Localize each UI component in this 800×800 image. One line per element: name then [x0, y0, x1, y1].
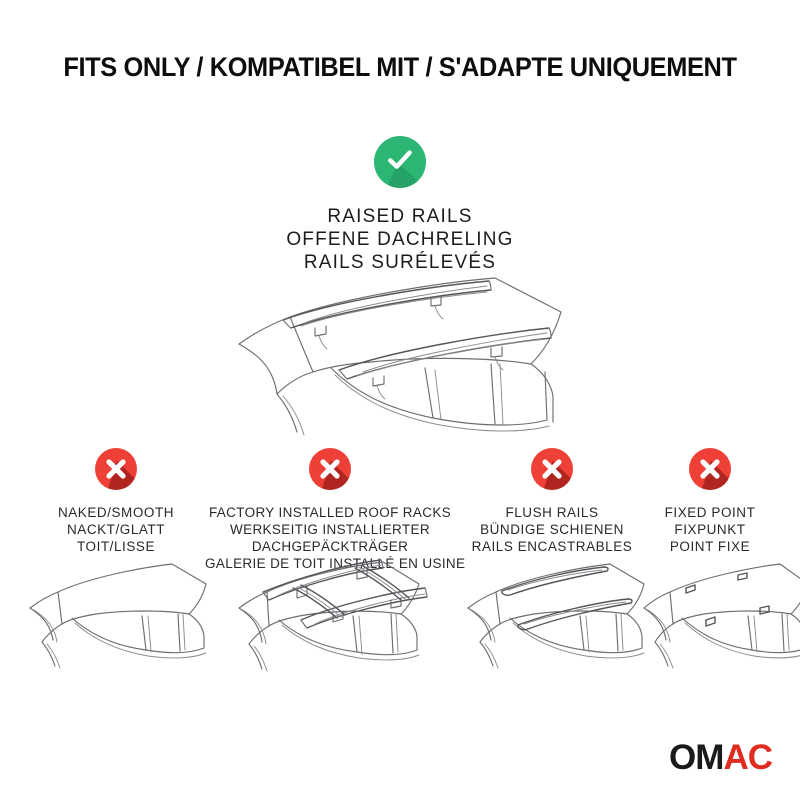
- approved-label-de: OFFENE DACHRELING: [0, 228, 800, 251]
- rejected-label-de: NACKT/GLATT: [10, 521, 222, 538]
- car-roof-factory-rack-illustration: [205, 530, 455, 680]
- car-roof-fixed-point-illustration: [630, 548, 790, 678]
- rejected-item-flush-rails: FLUSH RAILS BÜNDIGE SCHIENEN RAILS ENCAS…: [452, 448, 652, 555]
- rejected-label-en: FLUSH RAILS: [452, 504, 652, 521]
- rejected-item-naked-smooth: NAKED/SMOOTH NACKT/GLATT TOIT/LISSE: [10, 448, 222, 555]
- x-mark-glyph: [104, 457, 128, 481]
- approved-label-en: RAISED RAILS: [0, 205, 800, 228]
- omac-brand-logo: OMAC: [669, 740, 772, 776]
- x-circle-icon: [309, 448, 351, 490]
- approved-label-group: RAISED RAILS OFFENE DACHRELING RAILS SUR…: [0, 205, 800, 274]
- car-roof-flush-rails-illustration: [452, 548, 652, 678]
- brand-logo-dark-text: OM: [669, 738, 723, 777]
- x-circle-icon: [689, 448, 731, 490]
- rejected-label-en: NAKED/SMOOTH: [10, 504, 222, 521]
- car-roof-raised-rails-illustration: [195, 272, 610, 457]
- rejected-item-factory-installed-roof-racks: FACTORY INSTALLED ROOF RACKS WERKSEITIG …: [205, 448, 455, 572]
- rejected-label-de: BÜNDIGE SCHIENEN: [452, 521, 652, 538]
- check-mark-glyph: [387, 147, 413, 173]
- rejected-label-en: FIXED POINT: [630, 504, 790, 521]
- x-mark-glyph: [318, 457, 342, 481]
- approved-label-fr: RAILS SURÉLEVÉS: [0, 251, 800, 274]
- brand-logo-red-text: AC: [723, 738, 772, 777]
- rejected-fitment-section: NAKED/SMOOTH NACKT/GLATT TOIT/LISSE: [0, 448, 800, 788]
- approved-fitment-section: RAISED RAILS OFFENE DACHRELING RAILS SUR…: [0, 136, 800, 274]
- x-circle-icon: [95, 448, 137, 490]
- rejected-item-fixed-point: FIXED POINT FIXPUNKT POINT FIXE: [630, 448, 790, 555]
- rejected-label-en: FACTORY INSTALLED ROOF RACKS: [205, 504, 455, 521]
- car-roof-naked-illustration: [10, 548, 222, 678]
- rejected-label-de: FIXPUNKT: [630, 521, 790, 538]
- x-mark-glyph: [540, 457, 564, 481]
- x-mark-glyph: [698, 457, 722, 481]
- check-circle-icon: [374, 136, 426, 188]
- page-title: FITS ONLY / KOMPATIBEL MIT / S'ADAPTE UN…: [24, 52, 776, 83]
- x-circle-icon: [531, 448, 573, 490]
- product-fitment-infographic: FITS ONLY / KOMPATIBEL MIT / S'ADAPTE UN…: [0, 0, 800, 800]
